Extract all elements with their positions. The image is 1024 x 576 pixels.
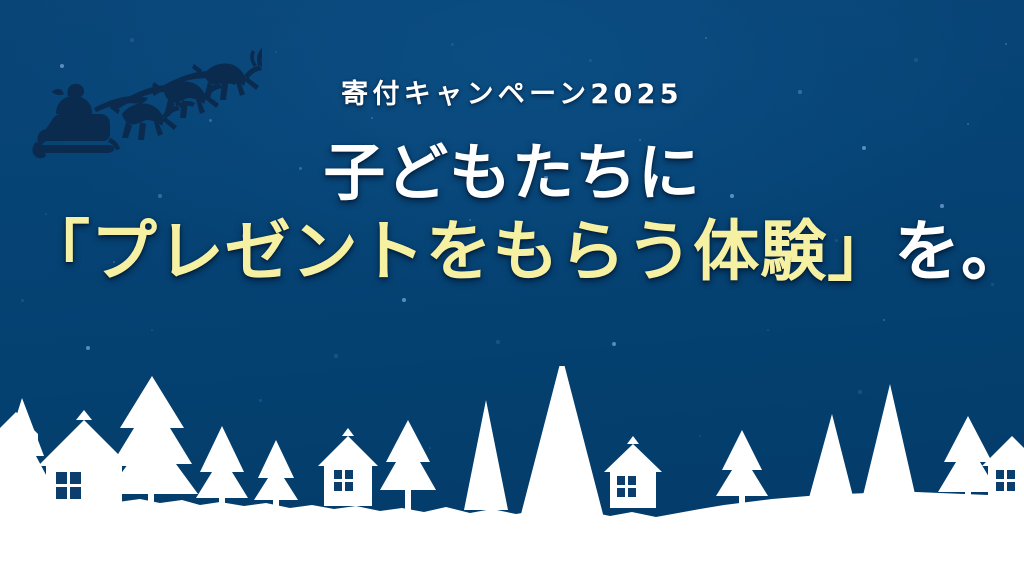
star-dot: [705, 37, 708, 40]
star-dot: [21, 299, 24, 302]
copy-block: 寄付キャンペーン2025 子どもたちに 「プレゼントをもらう体験」を。: [0, 78, 1024, 289]
headline-line-2-quoted: 「プレゼントをもらう体験」: [24, 213, 894, 290]
snow-village-silhouette: [0, 366, 1024, 576]
campaign-eyebrow: 寄付キャンペーン2025: [24, 78, 1000, 112]
star-dot: [589, 59, 592, 62]
star-dot: [612, 342, 616, 346]
headline-line-2: 「プレゼントをもらう体験」を。: [24, 215, 1000, 289]
star-dot: [883, 319, 886, 322]
star-dot: [1005, 43, 1008, 46]
star-dot: [496, 340, 499, 343]
headline-line-1: 子どもたちに: [24, 138, 1000, 207]
star-dot: [151, 329, 154, 332]
page-title: 子どもたちに 「プレゼントをもらう体験」を。: [24, 138, 1000, 289]
star-dot: [86, 346, 90, 350]
star-dot: [914, 58, 917, 61]
star-dot: [451, 43, 454, 46]
star-dot: [275, 51, 278, 54]
star-dot: [334, 354, 337, 357]
star-dot: [60, 64, 64, 68]
star-dot: [130, 38, 133, 41]
headline-line-2-tail: を。: [894, 213, 1024, 290]
campaign-banner: 寄付キャンペーン2025 子どもたちに 「プレゼントをもらう体験」を。: [0, 0, 1024, 576]
star-dot: [767, 329, 770, 332]
star-dot: [402, 298, 406, 302]
